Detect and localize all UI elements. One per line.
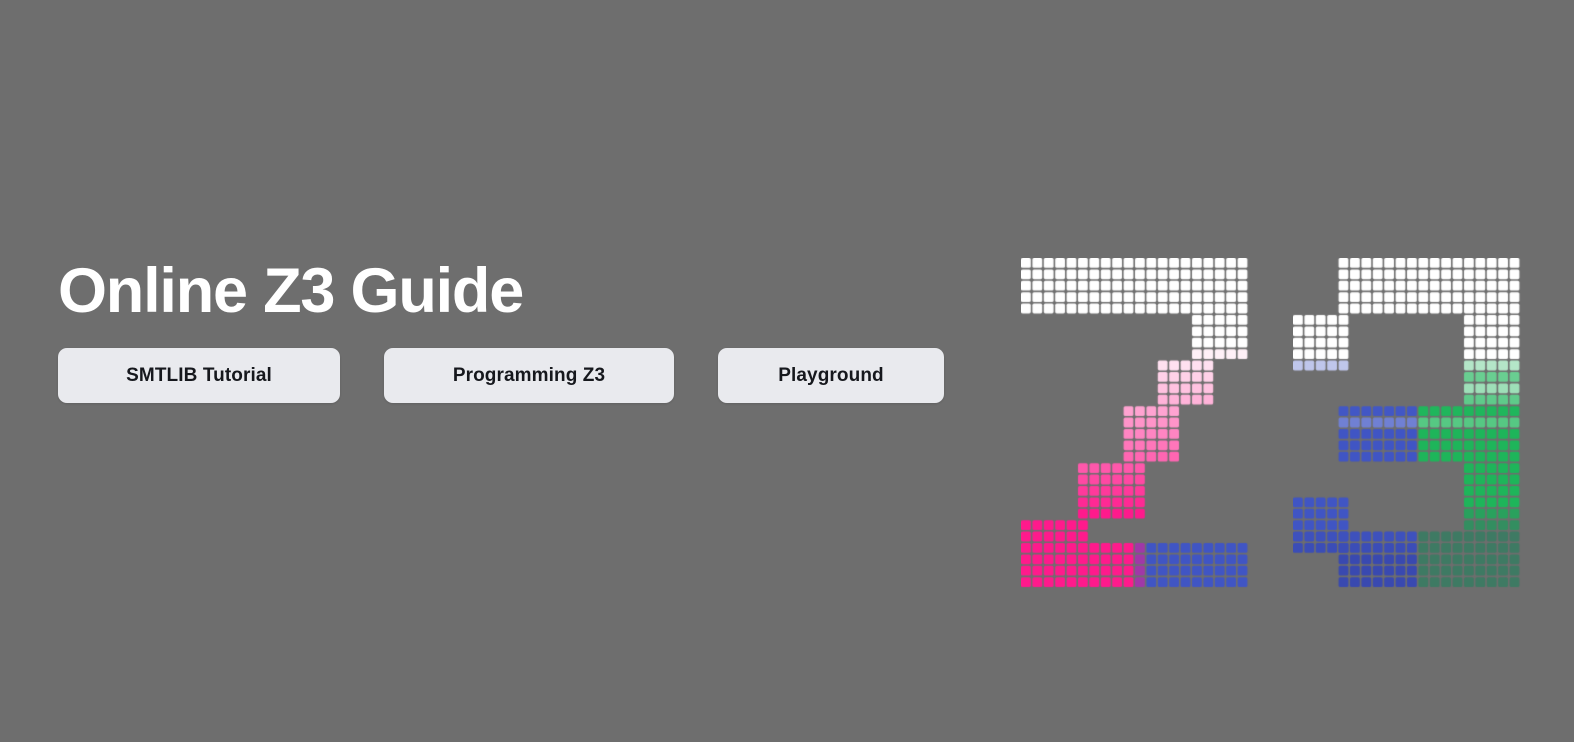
logo-glyph-three — [1293, 258, 1525, 594]
page-title: Online Z3 Guide — [58, 258, 944, 324]
hero-text-block: Online Z3 Guide SMTLIB Tutorial Programm… — [58, 258, 944, 403]
cta-button-row: SMTLIB Tutorial Programming Z3 Playgroun… — [58, 348, 944, 403]
hero-section: Online Z3 Guide SMTLIB Tutorial Programm… — [0, 0, 1574, 742]
logo-glyph-three-canvas — [1293, 258, 1525, 594]
logo-glyph-z-canvas — [1021, 258, 1253, 594]
programming-z3-button[interactable]: Programming Z3 — [384, 348, 674, 403]
playground-button[interactable]: Playground — [718, 348, 944, 403]
logo-glyph-z — [1021, 258, 1253, 594]
smtlib-tutorial-button[interactable]: SMTLIB Tutorial — [58, 348, 340, 403]
